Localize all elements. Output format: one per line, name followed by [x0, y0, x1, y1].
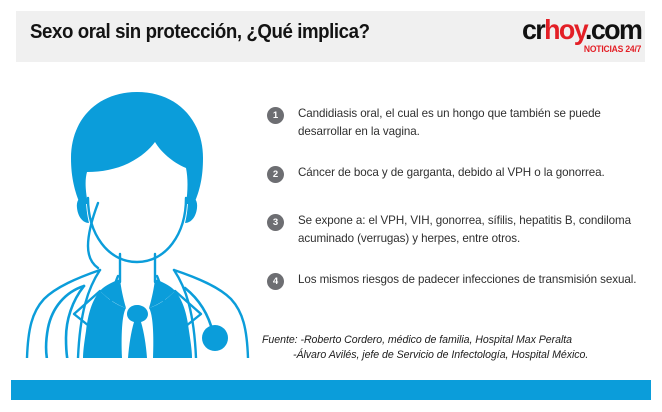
doctor-illustration: [22, 86, 254, 358]
list-item-text: Cáncer de boca y de garganta, debido al …: [298, 166, 605, 179]
list-item: 4 Los mismos riesgos de padecer infeccio…: [267, 270, 647, 296]
list-item-text: Candidiasis oral, el cual es un hongo qu…: [298, 107, 601, 138]
source-note: Fuente: -Roberto Cordero, médico de fami…: [262, 333, 652, 362]
doctor-icon: [22, 86, 254, 358]
list-item-number: 3: [267, 214, 284, 231]
logo-suffix: .com: [585, 14, 641, 45]
infographic-canvas: Sexo oral sin protección, ¿Qué implica? …: [0, 0, 662, 412]
logo-highlight: hoy: [544, 14, 585, 45]
list-item-text: Se expone a: el VPH, VIH, gonorrea, sífi…: [298, 214, 631, 245]
list-item-text: Los mismos riesgos de padecer infeccione…: [298, 273, 636, 286]
list-item: 1 Candidiasis oral, el cual es un hongo …: [267, 104, 647, 140]
list-item: 3 Se expone a: el VPH, VIH, gonorrea, sí…: [267, 211, 647, 247]
risk-list: 1 Candidiasis oral, el cual es un hongo …: [267, 104, 647, 296]
list-item-number: 1: [267, 107, 284, 124]
page-title: Sexo oral sin protección, ¿Qué implica?: [30, 20, 421, 44]
source-line-2: -Álvaro Avilés, jefe de Servicio de Infe…: [262, 348, 652, 363]
footer-accent-bar: [11, 380, 651, 400]
list-item-number: 4: [267, 273, 284, 290]
logo-prefix: cr: [522, 14, 544, 45]
logo-wordmark: crhoy.com: [522, 16, 641, 44]
logo-tagline: NOTICIAS 24/7: [523, 45, 641, 54]
list-item-number: 2: [267, 166, 284, 183]
crhoy-logo[interactable]: crhoy.com NOTICIAS 24/7: [517, 16, 641, 54]
list-item: 2 Cáncer de boca y de garganta, debido a…: [267, 163, 647, 189]
source-line-1: Fuente: -Roberto Cordero, médico de fami…: [262, 334, 572, 346]
